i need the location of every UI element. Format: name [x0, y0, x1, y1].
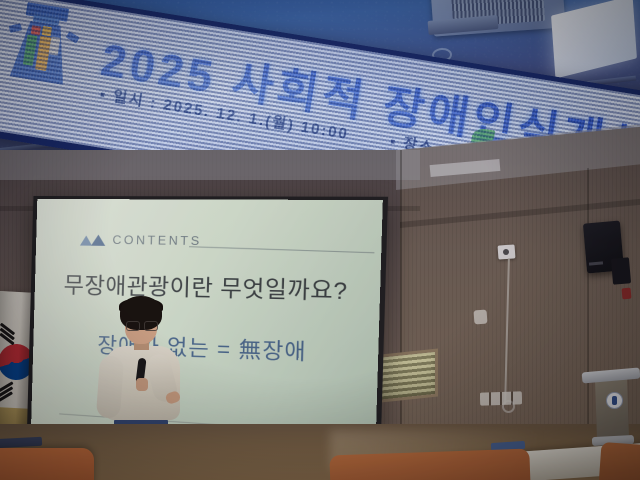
presenter-hand-with-mic [136, 378, 148, 391]
lower-ceiling-left [0, 150, 420, 180]
lecture-hall-photo: 2025 사회적 장애인식개선교육 ▪ 일시 : 2025. 12. 1.(월)… [0, 0, 640, 480]
speaker-bracket [611, 257, 631, 284]
camera-lens-icon [503, 249, 509, 255]
lectern-emblem-icon [606, 392, 623, 409]
fire-alarm-icon [622, 288, 632, 300]
projection-screen: CONTENTS 무장애관광이란 무엇일까요? 장애가 없는 = 無장애 [31, 199, 383, 458]
glasses-right-lens-icon [144, 321, 158, 331]
lectern [595, 377, 629, 440]
wall-knob[interactable] [474, 310, 488, 325]
presenter-left-arm [96, 355, 124, 419]
chair-left-foreground [0, 448, 94, 480]
mascot-icon [0, 0, 85, 92]
wall-panel-seam [587, 168, 589, 448]
glasses-left-lens-icon [126, 321, 140, 331]
wall-outlet[interactable] [480, 391, 522, 405]
screen-sheen [31, 199, 383, 458]
chair-right-foreground [599, 442, 640, 480]
